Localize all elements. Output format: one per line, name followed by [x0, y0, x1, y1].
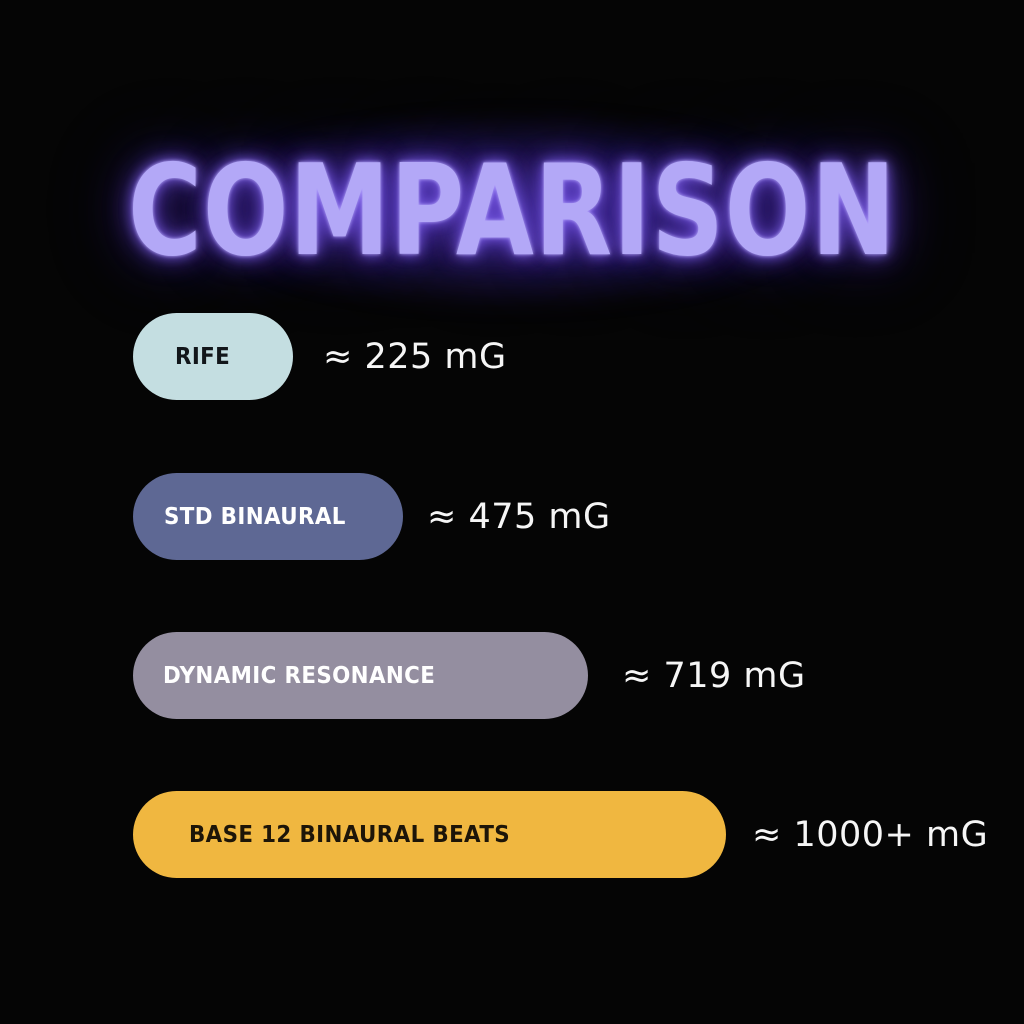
bar-value: ≈ 225 mG	[323, 337, 507, 377]
bar-label: STD BINAURAL	[164, 504, 346, 530]
page-title: COMPARISON	[128, 152, 896, 270]
bar-row: STD BINAURAL ≈ 475 mG	[133, 473, 611, 560]
bar-value: ≈ 1000+ mG	[752, 815, 988, 855]
bar-pill-std-binaural: STD BINAURAL	[133, 473, 403, 560]
bar-label: DYNAMIC RESONANCE	[163, 663, 435, 689]
bar-label: RIFE	[175, 344, 230, 370]
bar-label: BASE 12 BINAURAL BEATS	[189, 822, 510, 848]
title-area: COMPARISON	[0, 68, 1024, 355]
bar-pill-base-12-binaural-beats: BASE 12 BINAURAL BEATS	[133, 791, 726, 878]
bar-row: DYNAMIC RESONANCE ≈ 719 mG	[133, 632, 806, 719]
bar-value: ≈ 475 mG	[427, 497, 611, 537]
bar-row: RIFE ≈ 225 mG	[133, 313, 507, 400]
comparison-infographic: COMPARISON RIFE ≈ 225 mG STD BINAURAL ≈ …	[0, 0, 1024, 1024]
bar-pill-dynamic-resonance: DYNAMIC RESONANCE	[133, 632, 588, 719]
title-glow	[202, 116, 822, 306]
bar-row: BASE 12 BINAURAL BEATS ≈ 1000+ mG	[133, 791, 988, 878]
bar-value: ≈ 719 mG	[622, 656, 806, 696]
bar-pill-rife: RIFE	[133, 313, 293, 400]
